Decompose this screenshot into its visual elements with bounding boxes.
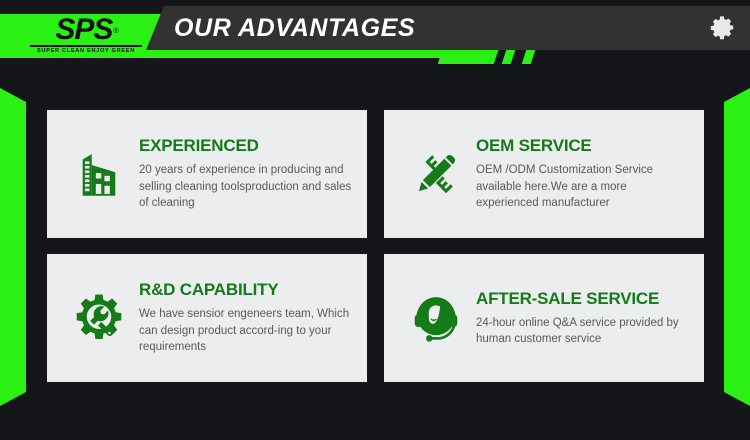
accent-slashes [440,50,620,66]
card-title: EXPERIENCED [139,136,355,156]
card-description: 24-hour online Q&A service provided by h… [476,315,692,348]
card-description: We have sensior engeneers team, Which ca… [139,306,355,356]
advantage-card-experienced[interactable]: EXPERIENCED 20 years of experience in pr… [47,110,367,238]
card-body: OEM SERVICE OEM /ODM Customization Servi… [472,136,692,212]
settings-button[interactable] [706,12,738,44]
card-description: OEM /ODM Customization Service available… [476,162,692,212]
card-body: EXPERIENCED 20 years of experience in pr… [135,136,355,212]
slash-2 [502,50,516,64]
logo-text: SPS [55,13,112,46]
card-icon-slot [400,138,472,210]
card-icon-slot [63,282,135,354]
registered-mark-icon: ® [113,28,117,35]
gear-wrench-icon [70,289,128,347]
logo-wordmark: SPS® [55,17,116,43]
advantage-card-after-sale-service[interactable]: AFTER-SALE SERVICE 24-hour online Q&A se… [384,254,704,382]
card-title: OEM SERVICE [476,136,692,156]
gear-icon [708,14,736,42]
page-title: OUR ADVANTAGES [174,6,415,50]
headset-support-icon [407,289,465,347]
card-body: AFTER-SALE SERVICE 24-hour online Q&A se… [472,289,692,348]
logo-tagline: SUPER CLEAN ENJOY GREEN [30,48,142,55]
card-description: 20 years of experience in producing and … [139,162,355,212]
factory-building-icon [70,145,128,203]
advantages-banner: OUR ADVANTAGES SPS® SUPER CLEAN ENJOY GR… [0,0,750,440]
header: OUR ADVANTAGES SPS® SUPER CLEAN ENJOY GR… [0,0,750,72]
card-title: R&D CAPABILITY [139,280,355,300]
left-green-accent [0,88,26,406]
card-icon-slot [63,138,135,210]
card-icon-slot [400,282,472,354]
slash-3 [522,50,536,64]
advantages-grid: EXPERIENCED 20 years of experience in pr… [47,110,704,382]
advantage-card-rd-capability[interactable]: R&D CAPABILITY We have sensior engeneers… [47,254,367,382]
card-body: R&D CAPABILITY We have sensior engeneers… [135,280,355,356]
right-green-accent [724,88,750,406]
pencil-design-icon [408,146,464,202]
advantage-card-oem-service[interactable]: OEM SERVICE OEM /ODM Customization Servi… [384,110,704,238]
brand-logo: SPS® SUPER CLEAN ENJOY GREEN [30,17,142,59]
card-title: AFTER-SALE SERVICE [476,289,692,309]
slash-1 [438,50,499,64]
